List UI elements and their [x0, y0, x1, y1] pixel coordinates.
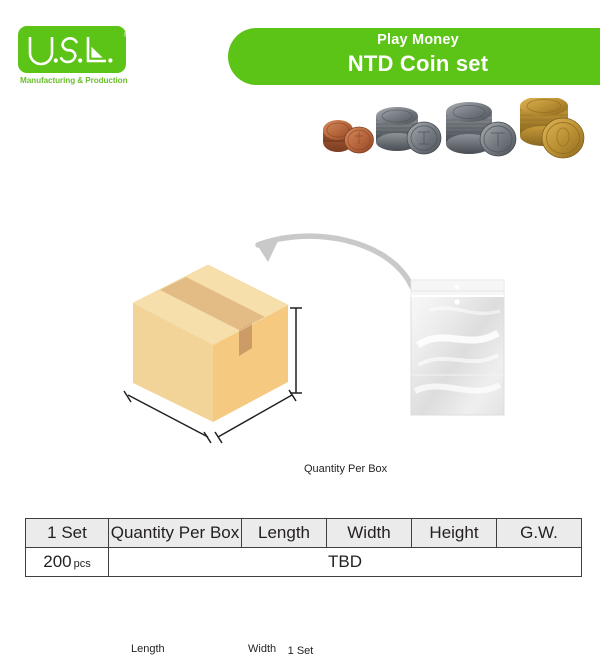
set-quantity-value: 200 [43, 552, 71, 571]
ntd-coins-photo [318, 98, 586, 166]
page-title: NTD Coin set [228, 50, 600, 78]
company-logo: ® Manufacturing & Production [18, 26, 136, 96]
logo-wordmark [18, 26, 126, 73]
cell-tbd: TBD [109, 548, 582, 577]
quantity-arrow-icon [256, 236, 412, 287]
table-row: 200pcs TBD [26, 548, 582, 577]
usl-letters-icon [24, 33, 120, 67]
quantity-per-box-label: Quantity Per Box [304, 463, 387, 475]
col-header-quantity-per-box: Quantity Per Box [109, 519, 242, 548]
col-header-width: Width [327, 519, 412, 548]
packaging-diagram: Quantity Per Box G.W. Height Length Widt… [0, 215, 600, 465]
bag-label: 1 Set [0, 645, 600, 657]
header-banner: Play Money NTD Coin set [228, 28, 600, 85]
table-header-row: 1 Set Quantity Per Box Length Width Heig… [26, 519, 582, 548]
cell-set-quantity: 200pcs [26, 548, 109, 577]
col-header-height: Height [412, 519, 497, 548]
registered-trademark-icon: ® [124, 32, 129, 39]
zip-bag-icon [411, 280, 504, 415]
coin-group-10ntd [446, 102, 516, 156]
coin-group-50ntd [520, 98, 584, 158]
banner-subtitle: Play Money [228, 31, 600, 50]
logo-tagline: Manufacturing & Production [20, 76, 136, 85]
col-header-length: Length [242, 519, 327, 548]
set-quantity-unit: pcs [74, 558, 91, 570]
col-header-gw: G.W. [497, 519, 582, 548]
col-header-1-set: 1 Set [26, 519, 109, 548]
coin-group-5ntd [376, 107, 441, 154]
height-dimension-line [290, 308, 302, 393]
bag-label-text: 1 Set [288, 645, 314, 657]
coin-group-1ntd [323, 120, 374, 153]
carton-box-icon [133, 265, 288, 422]
spec-table: 1 Set Quantity Per Box Length Width Heig… [25, 518, 582, 577]
